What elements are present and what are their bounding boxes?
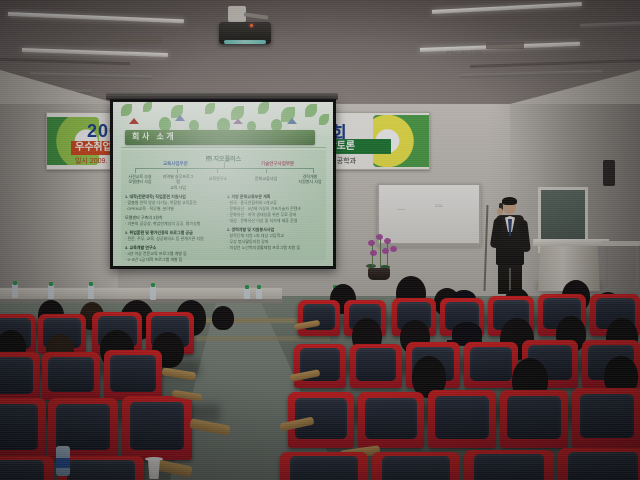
org-node: 사전교육 부설모델센터 사업	[123, 174, 157, 185]
ivy-leaf-icon	[231, 106, 244, 120]
auditorium-seat	[500, 390, 568, 448]
auditorium-seat	[104, 350, 162, 400]
aisle-step	[188, 336, 330, 341]
ivy-leaf-icon	[258, 102, 269, 114]
roof-icon	[175, 115, 185, 121]
orchid-pot	[368, 268, 390, 280]
tree-icon	[159, 117, 171, 131]
bottle-label	[56, 458, 70, 468]
bullet-line: OPEN교육 · 직무별, 분야별	[125, 206, 204, 212]
whiteboard: ~~ ≈≈	[377, 183, 481, 245]
org-node: 경력개발지원봉사 사업	[293, 174, 327, 185]
roof-icon	[233, 119, 243, 124]
orchid-bloom	[384, 238, 391, 244]
auditorium-seat	[42, 352, 100, 400]
seat-cushion	[580, 394, 635, 438]
projector-lens	[224, 40, 266, 44]
bullet-line: · 전문, 주무, 교육, 상공회의소 등 관계기관 지원	[125, 236, 204, 242]
org-connector	[177, 168, 178, 173]
slide-title: 회사 소개	[132, 131, 176, 142]
whiteboard-writing: ≈≈	[435, 203, 443, 210]
auditorium-seat	[122, 396, 192, 460]
bullet-line: · 5~6년 1급 대학 프로그램 개발 등	[125, 257, 204, 263]
org-connector	[313, 168, 314, 173]
projection-screen: 회사 소개 ㈜ 지오플러스 교육사업부문 기술연구사업부문 사전교육 부설모델센…	[110, 99, 336, 269]
org-node: 지역별 실무프로그램교육 사업	[161, 174, 195, 190]
whiteboard-writing: ~~	[397, 207, 405, 214]
seat-cushion	[382, 456, 451, 480]
auditorium-seat	[464, 342, 518, 388]
slide-content-area: ㈜ 지오플러스 교육사업부문 기술연구사업부문 사전교육 부설모델센터 사업 지…	[121, 150, 326, 260]
ivy-leaf-icon	[319, 114, 329, 125]
slide-column-right: 1. 지방 문화교류부문 계획 · 한국 · 중국연합회와 2개교류 · 문화유…	[227, 194, 301, 251]
ivy-leaf-icon	[143, 102, 152, 112]
projector-power-led	[250, 24, 253, 27]
ivy-leaf-icon	[205, 103, 215, 114]
auditorium-seat	[280, 452, 368, 480]
auditorium-seat	[358, 392, 424, 448]
org-connector	[135, 168, 313, 169]
org-node: 교육연구소	[205, 176, 231, 181]
auditorium-seat	[294, 344, 346, 388]
seat-cushion	[474, 454, 544, 480]
water-bottle	[88, 285, 94, 299]
slide-column-left: 1. 대학(전문대학) 직업훈련 지원사업 · 맞춤형 인력 양성 다기능, 복…	[125, 194, 204, 263]
orchid-stem	[387, 242, 388, 266]
bullet-line: · 대상 · 문화유산 이상 및 지자체 제휴 운영	[227, 218, 301, 224]
water-bottle	[48, 285, 54, 299]
bottle-cap	[257, 285, 261, 289]
presenter-hair	[502, 197, 517, 205]
audience-head	[212, 306, 234, 330]
bottle-cap	[89, 282, 93, 286]
auditorium-photo: 200 우수취업 일시 2009. 수회 강전학토론 학교 환경공학과 PROJ…	[0, 0, 640, 480]
orchid-bloom	[370, 250, 377, 256]
projector-label: PROJECTOR	[447, 51, 482, 57]
orchid-bloom	[368, 240, 375, 246]
water-bottle	[244, 288, 250, 299]
paper-cup-rim	[145, 457, 163, 461]
slide-title-bar: 회사 소개	[125, 130, 315, 145]
bottle-cap	[13, 281, 17, 285]
seat-cushion	[0, 404, 38, 450]
org-connector	[266, 168, 267, 173]
orchid-bloom	[390, 246, 397, 252]
water-bottle	[150, 286, 156, 300]
side-table-legs	[606, 246, 638, 288]
org-group-right: 기술연구사업부문	[261, 161, 294, 167]
bullet-line: · 미성년 노인복지생활체험 프로그램 지원 등	[227, 245, 301, 251]
slide-divider	[121, 147, 326, 148]
roof-icon	[129, 118, 139, 124]
ceiling-beam	[120, 36, 162, 44]
seat-cushion	[470, 347, 512, 381]
orchid-bloom	[376, 234, 383, 240]
slide-surface: 회사 소개 ㈜ 지오플러스 교육사업부문 기술연구사업부문 사전교육 부설모델센…	[113, 102, 333, 266]
seat-cushion	[0, 460, 44, 480]
auditorium-seat	[0, 352, 40, 402]
seat-cushion	[365, 398, 416, 439]
audience-cap	[452, 322, 482, 344]
bullet-line: · 기본의 공공성, 취업연계성의 공공, 평가실행	[125, 221, 204, 227]
bottle-cap	[151, 283, 155, 287]
auditorium-seat	[428, 390, 496, 448]
seat-cushion	[0, 357, 33, 394]
water-bottle	[256, 288, 262, 299]
auditorium-seat	[298, 300, 340, 336]
org-node: 문화교류사업	[249, 176, 283, 181]
bottle-cap	[49, 282, 53, 286]
seat-cushion	[435, 396, 488, 439]
water-bottle	[12, 284, 18, 298]
seat-cushion	[568, 452, 638, 480]
org-connector	[135, 168, 136, 173]
seat-cushion	[356, 348, 397, 381]
auditorium-seat	[0, 456, 54, 480]
orchid-stem	[380, 237, 381, 266]
auditorium-seat	[372, 452, 460, 480]
roof-icon	[287, 118, 297, 124]
presenter-hand	[497, 208, 503, 215]
orchid-bloom	[382, 248, 389, 254]
ivy-leaf-icon	[121, 104, 132, 116]
ivy-leaf-icon	[305, 104, 317, 117]
seat-cushion	[507, 396, 560, 439]
auditorium-seat	[558, 448, 640, 480]
org-group-left: 교육사업부문	[163, 161, 188, 167]
wall-speaker-icon	[603, 160, 615, 186]
auditorium-seat	[58, 456, 144, 480]
auditorium-seat	[464, 450, 554, 480]
org-connector	[217, 168, 218, 173]
ceiling-beam	[486, 42, 524, 49]
seat-cushion	[290, 456, 359, 480]
banner-date-left: 일시 2009.	[75, 156, 107, 166]
seat-cushion	[130, 402, 185, 449]
bottle-cap	[245, 285, 249, 289]
seat-cushion	[48, 357, 93, 393]
seat-cushion	[56, 404, 111, 450]
seat-cushion	[67, 460, 134, 480]
podium-top	[533, 239, 609, 246]
auditorium-seat	[0, 398, 46, 460]
auditorium-seat	[572, 388, 640, 448]
auditorium-seat	[350, 344, 402, 388]
seat-cushion	[110, 355, 155, 392]
